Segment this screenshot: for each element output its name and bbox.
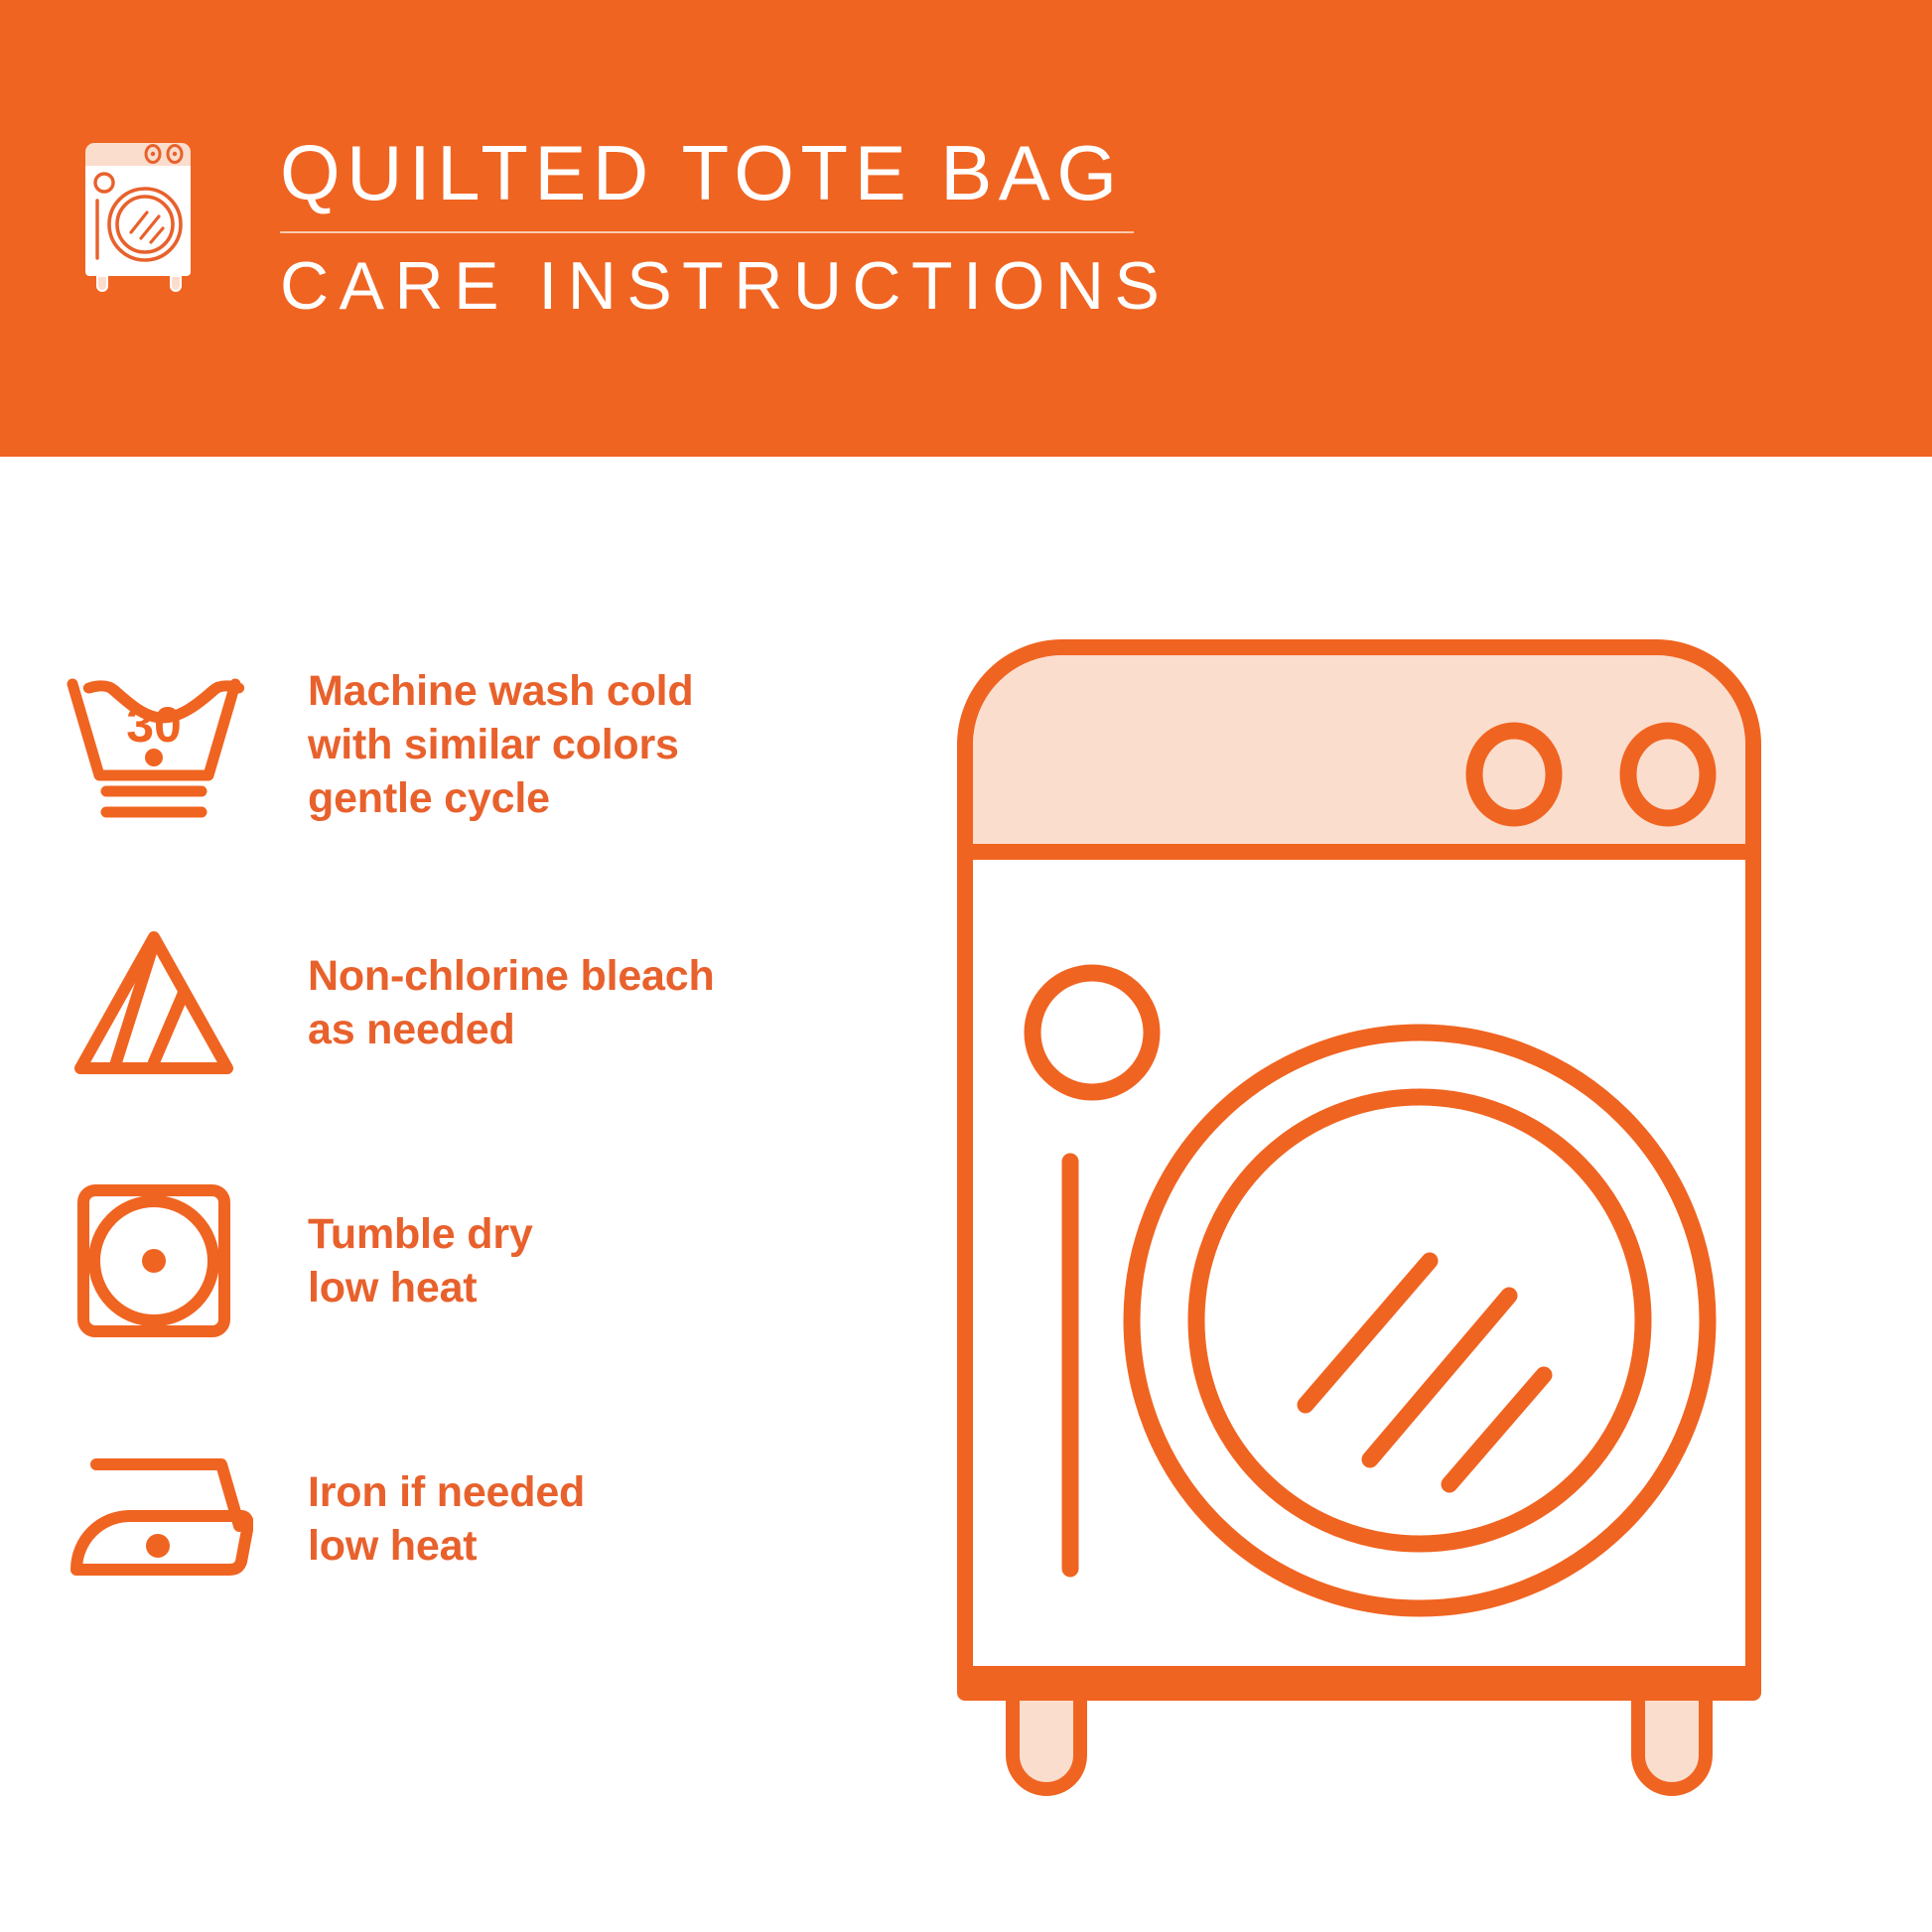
care-instruction-text: Tumble dry low heat bbox=[308, 1207, 533, 1314]
page-title: QUILTED TOTE BAG bbox=[280, 131, 1134, 214]
care-instructions-list: 30 Machine wash cold with similar colors… bbox=[0, 616, 923, 1648]
washing-machine-icon bbox=[77, 135, 207, 294]
wash-tub-30-icon: 30 bbox=[0, 658, 308, 832]
care-instruction-row: 30 Machine wash cold with similar colors… bbox=[0, 616, 923, 874]
non-chlorine-bleach-triangle-icon bbox=[0, 921, 308, 1085]
knob-right bbox=[1628, 731, 1708, 818]
wash-temperature-value: 30 bbox=[126, 697, 182, 753]
tumble-dry-low-icon bbox=[0, 1176, 308, 1345]
header-titles: QUILTED TOTE BAG CARE INSTRUCTIONS bbox=[280, 131, 1134, 324]
knob-left bbox=[1474, 731, 1554, 818]
care-instruction-row: Non-chlorine bleach as needed bbox=[0, 874, 923, 1132]
care-instruction-row: Iron if needed low heat bbox=[0, 1390, 923, 1648]
base-bar bbox=[965, 1666, 1753, 1696]
leg-left bbox=[1013, 1688, 1080, 1789]
care-instruction-text: Non-chlorine bleach as needed bbox=[308, 949, 715, 1056]
header-content: QUILTED TOTE BAG CARE INSTRUCTIONS bbox=[77, 131, 1134, 324]
page-subtitle: CARE INSTRUCTIONS bbox=[280, 248, 1134, 324]
care-instruction-text: Iron if needed low heat bbox=[308, 1465, 585, 1573]
leg-right bbox=[1638, 1688, 1706, 1789]
care-instruction-text: Machine wash cold with similar colors ge… bbox=[308, 664, 693, 825]
care-instruction-row: Tumble dry low heat bbox=[0, 1132, 923, 1390]
washing-machine-illustration bbox=[953, 635, 1866, 1827]
header-divider bbox=[280, 231, 1134, 233]
iron-low-heat-icon bbox=[0, 1445, 308, 1593]
header-band: QUILTED TOTE BAG CARE INSTRUCTIONS bbox=[0, 0, 1932, 457]
